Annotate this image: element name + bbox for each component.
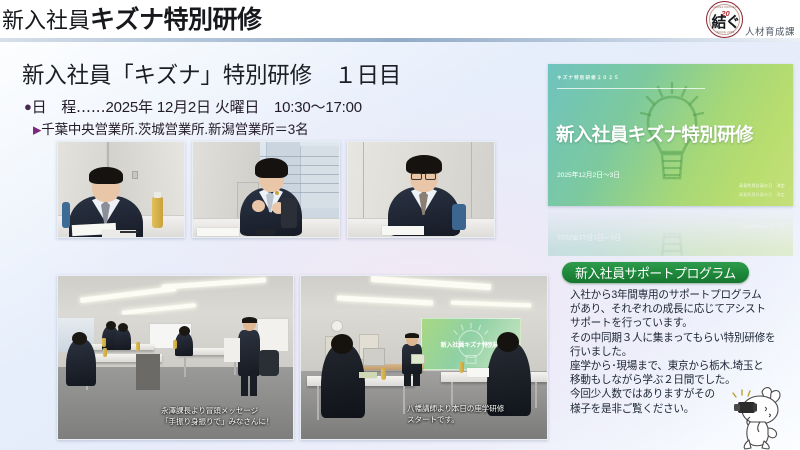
smartphone <box>255 229 275 235</box>
hand-left <box>252 200 265 212</box>
handout-paper <box>382 226 424 235</box>
tea-bottle <box>152 197 163 228</box>
sparkle-lines <box>733 390 750 397</box>
trainee-figure <box>388 154 460 236</box>
handout-paper-2 <box>359 372 377 378</box>
portrait-trainee-3 <box>347 141 495 238</box>
office-chair <box>259 350 279 376</box>
podium <box>224 338 240 362</box>
lapel-pin <box>275 191 279 195</box>
lightbulb-icon-reflection <box>640 222 704 256</box>
seated-trainee-left <box>321 344 365 418</box>
offices-text: 千葉中央営業所.茨城営業所.新潟営業所＝3名 <box>41 122 308 137</box>
rabbit-tail <box>768 428 777 438</box>
presenter-leg-l <box>241 374 248 396</box>
slide-dates: 2025年12月2日～3日 <box>557 169 620 179</box>
photo-scene <box>348 142 494 237</box>
seated-head-4 <box>179 326 190 336</box>
glasses-right-lens <box>425 173 436 180</box>
portrait-trainee-1 <box>57 141 185 238</box>
slide-credit-line-2: 清島利用計画の日 改定 <box>739 192 785 198</box>
photo-scene <box>193 142 339 237</box>
monitor <box>363 348 385 366</box>
seated-head-right <box>497 332 519 352</box>
handout-paper <box>467 368 489 377</box>
page-title: 新入社員キズナ特別研修 <box>2 4 262 37</box>
rabbit-with-binoculars <box>716 386 798 450</box>
standing-instructor <box>399 334 425 384</box>
support-program-badge: 新入社員サポートプログラム <box>562 262 749 283</box>
seated-head-1 <box>72 332 87 345</box>
room-lecture-start: 新入社員キズナ特別研修 <box>300 275 548 440</box>
chair <box>281 198 297 228</box>
seated-head-3 <box>118 323 128 332</box>
presenter-hair <box>242 317 257 323</box>
hair <box>89 167 123 184</box>
support-program-label: 新入社員サポートプログラム <box>575 263 736 282</box>
seated-head-2 <box>106 321 116 330</box>
slide-main-title: 新入社員キズナ特別研修 <box>556 121 788 147</box>
seated-trainee-1 <box>66 339 96 386</box>
slide-canvas: 新入社員キズナ特別研修 KIZUNA PROJECT 20 結ぐ SINCE 2… <box>0 0 800 450</box>
brand-stamp-logo: KIZUNA PROJECT 20 結ぐ SINCE 2005 <box>706 1 743 38</box>
header-divider <box>0 38 800 42</box>
slide-eyebrow-text: キズナ特別研修２０２５ <box>557 75 620 81</box>
page-title-thin: 新入社員 <box>2 8 90 33</box>
schedule-line: ●日 程‥‥‥2025年 12月2日 火曜日 10:30～17:00 <box>24 96 362 117</box>
equipment-cart <box>136 354 160 390</box>
hair <box>255 158 288 178</box>
wall-clock <box>331 320 343 332</box>
portrait-trainee-2 <box>192 141 340 238</box>
pen <box>120 231 138 233</box>
photo-caption: 八幡講師より本日の座学研修 スタートです。 <box>407 404 504 425</box>
bottle-cap <box>154 192 161 198</box>
offices-line: ▶千葉中央営業所.茨城営業所.新潟営業所＝3名 <box>33 118 308 138</box>
hair <box>406 155 442 174</box>
slide-credit-reflection: 清島利用計画の日 改定 <box>742 223 785 229</box>
handout-paper <box>197 228 239 236</box>
page-title-bold: キズナ特別研修 <box>90 6 262 34</box>
presenter-leg-r <box>250 374 257 396</box>
photo-caption: 永澤課長より冒頭メッセージ 「手振り身振りで」みなさんに！ <box>161 406 273 427</box>
content-heading: 新入社員「キズナ」特別研修 １日目 <box>22 58 401 90</box>
photo-scene <box>58 142 184 237</box>
slide-credit-line-1: 清島利用計画の日 改定 <box>739 183 785 189</box>
slide-dates-reflection: 2025年12月2日～3日 <box>557 233 621 243</box>
slide-thumbnail-reflection: 2025年12月2日～3日 清島利用計画の日 改定 <box>548 206 793 256</box>
instructor-hair <box>405 333 419 338</box>
presentation-cover-thumbnail: キズナ特別研修２０２５ 新入社員キズナ特別研修 2025年12月2日～3日 清島… <box>548 64 793 206</box>
chair <box>452 204 466 230</box>
page-header: 新入社員キズナ特別研修 KIZUNA PROJECT 20 結ぐ SINCE 2… <box>0 0 800 41</box>
schedule-text: 日 程‥‥‥2025年 12月2日 火曜日 10:30～17:00 <box>32 99 362 116</box>
brand-stamp-kanji: 結ぐ <box>707 15 743 30</box>
instructor-handout <box>411 354 425 364</box>
department-label: 人材育成課 <box>745 24 795 38</box>
brand-stamp-arc-bottom: SINCE 2005 <box>707 31 743 34</box>
slide-divider <box>557 88 705 89</box>
presenter-jacket <box>238 330 260 376</box>
bullet-dot-icon: ● <box>24 99 32 114</box>
seated-head-left <box>331 334 353 354</box>
glasses-left-lens <box>411 173 422 180</box>
chair <box>62 202 70 228</box>
room-opening-message: 永澤課長より冒頭メッセージ 「手振り身振りで」みなさんに！ <box>57 275 294 440</box>
binoculars-icon <box>734 402 757 413</box>
